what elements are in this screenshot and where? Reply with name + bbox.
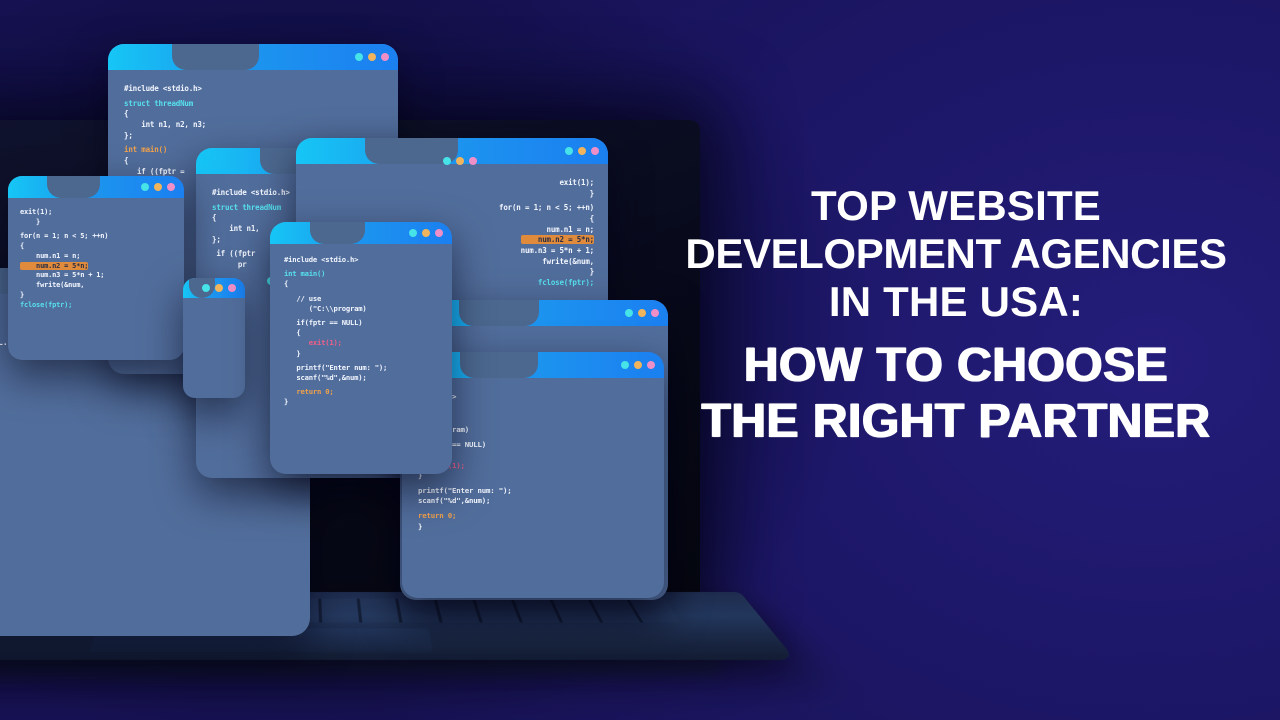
minimize-icon[interactable] <box>578 147 586 155</box>
maximize-icon[interactable] <box>167 183 175 191</box>
maximize-icon[interactable] <box>228 284 236 292</box>
close-icon[interactable] <box>141 183 149 191</box>
window-controls[interactable] <box>355 53 389 61</box>
headline-line-4: HOW TO CHOOSE <box>632 338 1280 395</box>
minimize-icon[interactable] <box>456 157 464 165</box>
code-block: #include <stdio.h> int main() { // use (… <box>270 244 452 416</box>
code-window-tiny[interactable] <box>183 278 245 398</box>
code-window-small-left[interactable]: exit(1); } for(n = 1; n < 5; ++n) { num.… <box>8 176 184 360</box>
code-window-center[interactable]: #include <stdio.h> int main() { // use (… <box>270 222 452 474</box>
window-titlebar[interactable] <box>8 176 184 198</box>
minimize-icon[interactable] <box>154 183 162 191</box>
window-controls[interactable] <box>443 157 477 165</box>
poster-headline: TOP WEBSITE DEVELOPMENT AGENCIES IN THE … <box>632 182 1280 451</box>
code-block: exit(1); } for(n = 1; n < 5; ++n) { num.… <box>8 198 184 319</box>
poster-canvas: open("C:\\program.bin","wb")) == NULL){ … <box>0 0 1280 720</box>
laptop-shadow <box>0 660 720 680</box>
minimize-icon[interactable] <box>368 53 376 61</box>
window-controls[interactable] <box>565 147 599 155</box>
window-controls[interactable] <box>409 229 443 237</box>
window-controls[interactable] <box>141 183 175 191</box>
close-icon[interactable] <box>443 157 451 165</box>
close-icon[interactable] <box>355 53 363 61</box>
minimize-icon[interactable] <box>422 229 430 237</box>
window-titlebar[interactable] <box>270 222 452 244</box>
close-icon[interactable] <box>202 284 210 292</box>
close-icon[interactable] <box>621 361 629 369</box>
headline-line-5: THE RIGHT PARTNER <box>632 394 1280 451</box>
window-controls[interactable] <box>202 284 236 292</box>
window-titlebar[interactable] <box>183 278 245 298</box>
window-titlebar[interactable] <box>108 44 398 70</box>
maximize-icon[interactable] <box>591 147 599 155</box>
headline-line-1: TOP WEBSITE <box>632 182 1280 230</box>
close-icon[interactable] <box>565 147 573 155</box>
close-icon[interactable] <box>409 229 417 237</box>
headline-line-3: IN THE USA: <box>632 278 1280 326</box>
minimize-icon[interactable] <box>215 284 223 292</box>
maximize-icon[interactable] <box>435 229 443 237</box>
headline-line-2: DEVELOPMENT AGENCIES <box>632 230 1280 278</box>
maximize-icon[interactable] <box>469 157 477 165</box>
maximize-icon[interactable] <box>381 53 389 61</box>
